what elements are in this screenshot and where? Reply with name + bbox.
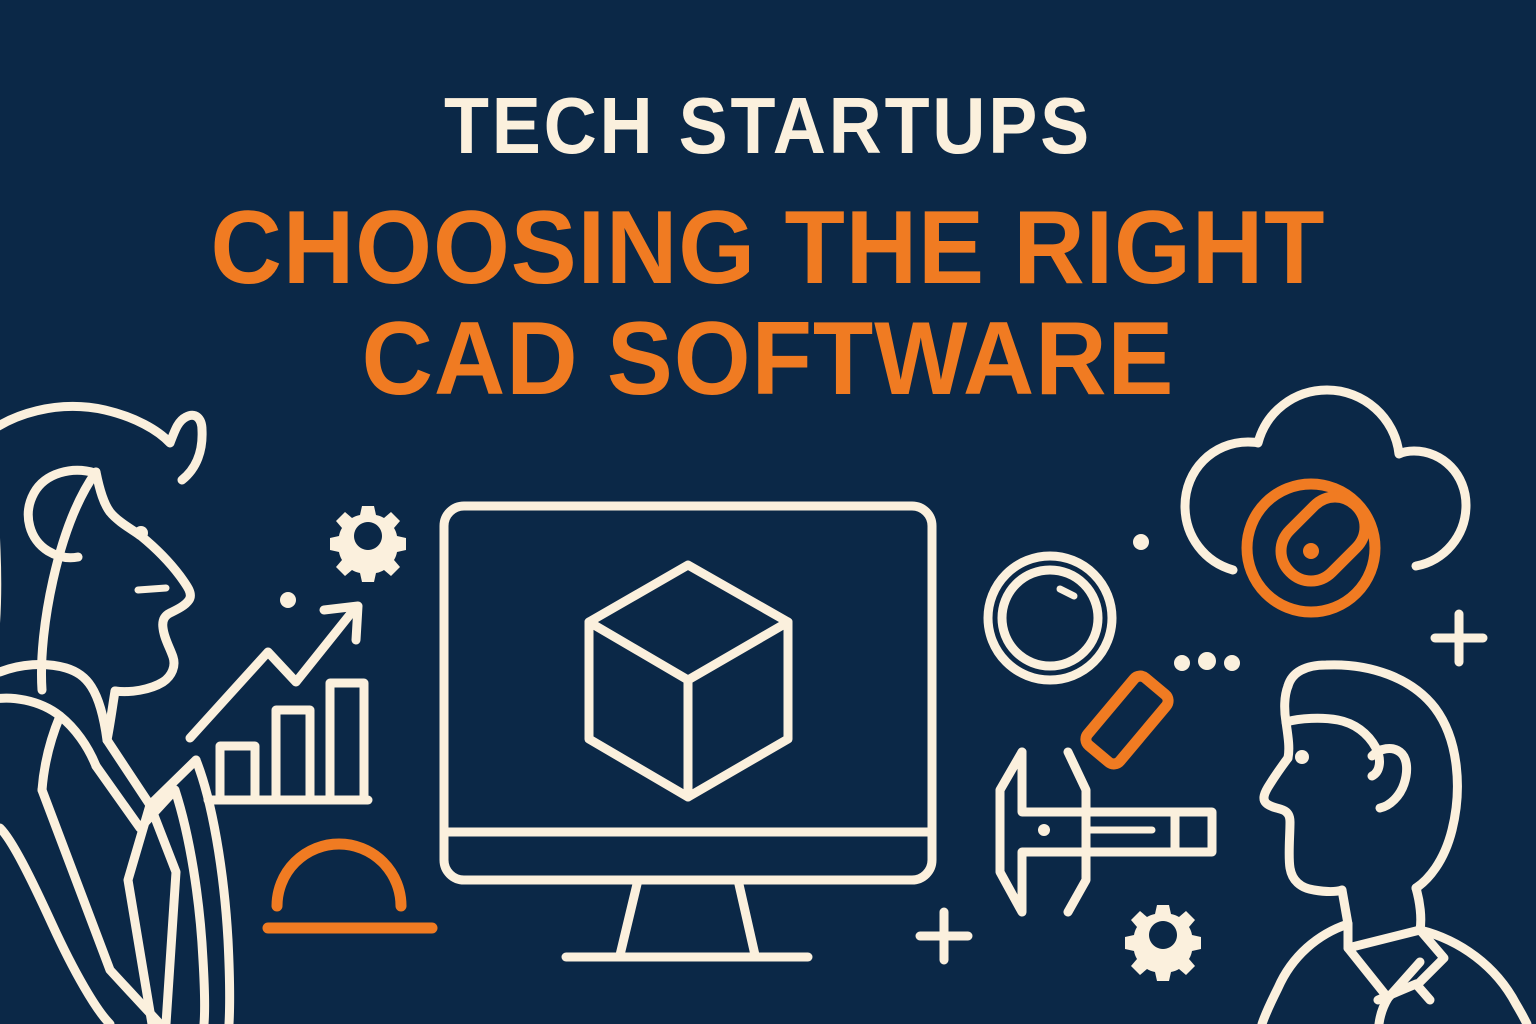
protractor-arch bbox=[268, 844, 432, 928]
monitor-with-3d-cube bbox=[444, 506, 932, 957]
banner-canvas: TECH STARTUPS CHOOSING THE RIGHT CAD SOF… bbox=[0, 0, 1536, 1024]
person-right-engineer bbox=[1262, 665, 1527, 1024]
bar-chart-growth bbox=[190, 606, 368, 800]
illustration-layer bbox=[0, 0, 1536, 1024]
plus-mark-right bbox=[1435, 614, 1483, 662]
cloud-with-link-icon bbox=[1185, 390, 1466, 612]
gear-icon-small-left bbox=[330, 506, 406, 582]
person-left-businessman bbox=[0, 407, 230, 1024]
ellipsis-dots bbox=[1174, 652, 1240, 671]
caliper-icon bbox=[1000, 752, 1212, 912]
dot-accent-left bbox=[280, 592, 296, 608]
plus-mark-center bbox=[920, 912, 968, 960]
dot-accent-upper-right bbox=[1133, 534, 1149, 550]
gear-icon-small-bottom bbox=[1125, 905, 1201, 981]
magnifier-icon bbox=[988, 556, 1171, 767]
cube-3d-wireframe bbox=[589, 565, 788, 797]
